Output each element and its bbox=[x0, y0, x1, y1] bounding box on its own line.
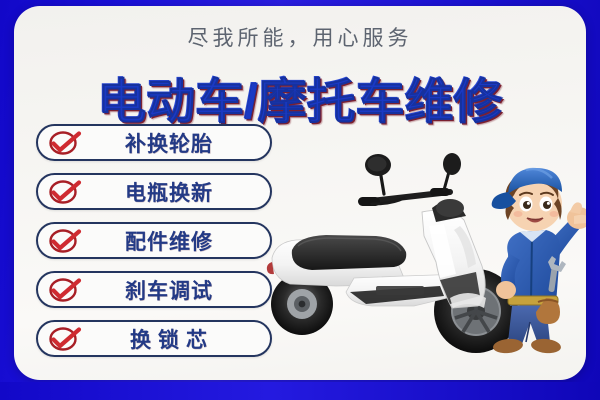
poster-tagline: 尽我所能，用心服务 bbox=[14, 22, 586, 52]
left-mirror bbox=[365, 154, 391, 194]
feature-label: 刹车调试 bbox=[82, 275, 270, 305]
feature-list: 补换轮胎 电瓶换新 配件维修 bbox=[36, 124, 286, 369]
poster-card: 尽我所能，用心服务 电动车/摩托车维修 补换轮胎 bbox=[14, 6, 586, 380]
check-circle-icon bbox=[48, 179, 82, 205]
feature-item-parts[interactable]: 配件维修 bbox=[36, 222, 272, 259]
feature-label: 换锁芯 bbox=[82, 324, 270, 354]
bottom-blue-bar bbox=[0, 382, 600, 400]
check-circle-icon bbox=[48, 277, 82, 303]
scooter-and-mechanic-illustration bbox=[254, 146, 586, 380]
check-circle-icon bbox=[48, 326, 82, 352]
right-mirror bbox=[443, 153, 461, 190]
feature-item-lock[interactable]: 换锁芯 bbox=[36, 320, 272, 357]
check-circle-icon bbox=[48, 228, 82, 254]
promo-poster: 尽我所能，用心服务 电动车/摩托车维修 补换轮胎 bbox=[0, 0, 600, 400]
feature-item-battery[interactable]: 电瓶换新 bbox=[36, 173, 272, 210]
check-circle-icon bbox=[48, 130, 82, 156]
feature-item-tire[interactable]: 补换轮胎 bbox=[36, 124, 272, 161]
thumbs-up-hand bbox=[567, 202, 586, 229]
poster-headline: 电动车/摩托车维修 bbox=[14, 62, 586, 132]
feature-label: 补换轮胎 bbox=[82, 128, 270, 158]
feature-label: 配件维修 bbox=[82, 226, 270, 256]
feature-label: 电瓶换新 bbox=[82, 177, 270, 207]
feature-item-brake[interactable]: 刹车调试 bbox=[36, 271, 272, 308]
artwork-area bbox=[254, 146, 586, 380]
scooter-graphic bbox=[267, 153, 518, 353]
